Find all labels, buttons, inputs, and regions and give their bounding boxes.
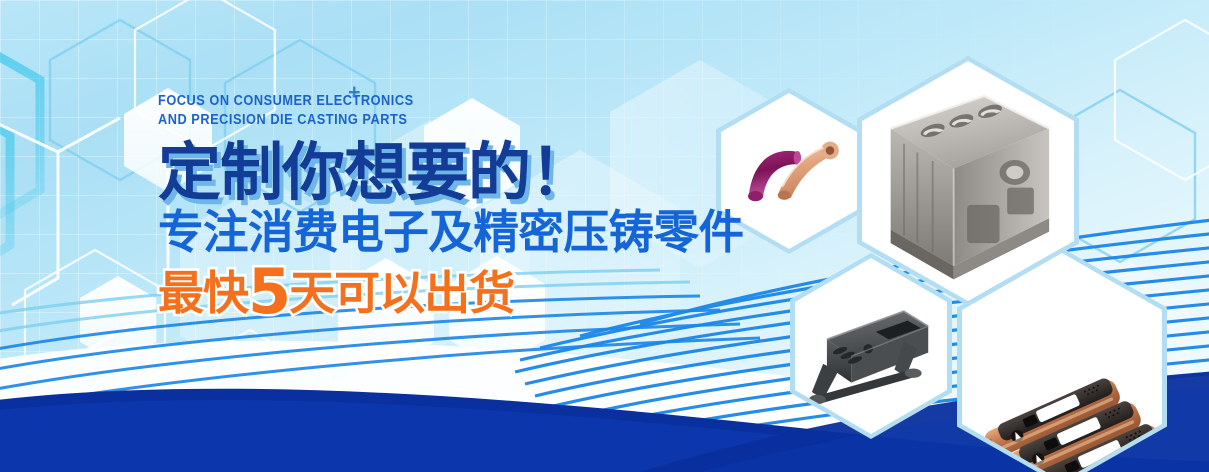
promo-number: 5	[248, 255, 289, 328]
hex-inner	[962, 253, 1162, 472]
product-hex-bracket-housing[interactable]	[790, 253, 952, 439]
promo-prefix: 最快	[158, 266, 248, 320]
subheadline: 专注消费电子及精密压铸零件	[158, 205, 744, 259]
promo-banner: FOCUS ON CONSUMER ELECTRONICS + AND PREC…	[0, 0, 1209, 472]
promo-suffix: 天可以出货	[289, 266, 514, 320]
copper-housings-image	[962, 253, 1162, 472]
eyebrow-text: FOCUS ON CONSUMER ELECTRONICS + AND PREC…	[158, 92, 679, 130]
plus-icon: +	[348, 83, 361, 102]
eyebrow-line-2: AND PRECISION DIE CASTING PARTS	[158, 112, 407, 128]
eyebrow-line-1: FOCUS ON CONSUMER ELECTRONICS	[158, 93, 414, 109]
banner-copy: FOCUS ON CONSUMER ELECTRONICS + AND PREC…	[158, 92, 750, 320]
product-hex-copper-housings[interactable]	[957, 248, 1167, 472]
headline: 定制你想要的！	[158, 139, 750, 207]
promo-line: 最快5天可以出货	[158, 265, 750, 320]
